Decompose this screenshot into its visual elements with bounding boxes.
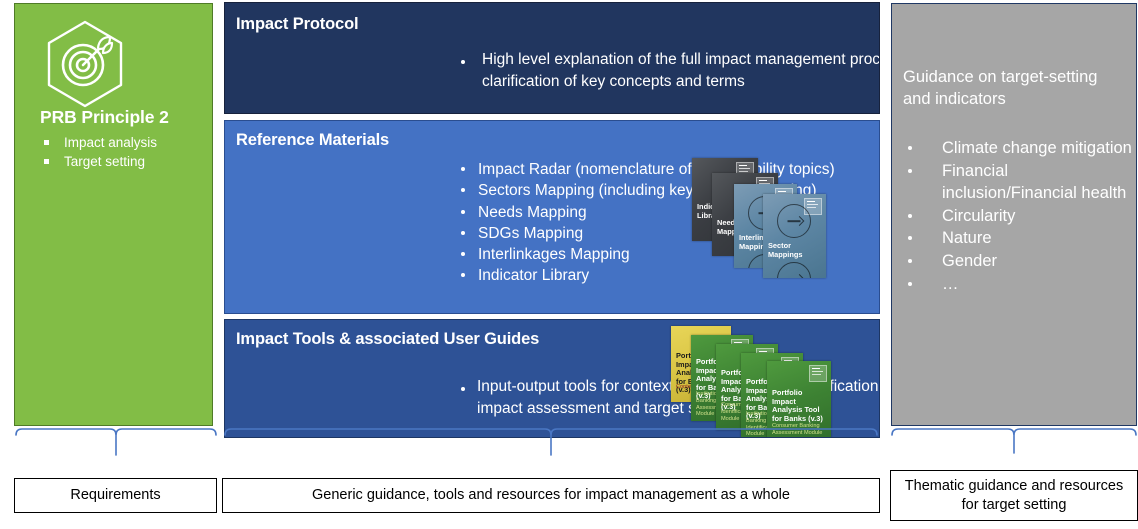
list-item-label: Circularity — [942, 207, 1015, 225]
tool-card-consumer-assessment: Portfolio Impact Analysis Tool for Banks… — [767, 361, 831, 438]
brace-requirements — [16, 429, 216, 435]
list-item: Gender — [903, 250, 1133, 273]
list-item-label: Indicator Library — [478, 267, 589, 284]
unepfi-logo-icon — [809, 365, 827, 382]
panel-thematic-guidance: Guidance on target-setting and indicator… — [891, 3, 1137, 426]
bullet-icon — [461, 252, 465, 256]
panel-title: Impact Tools & associated User Guides — [236, 330, 539, 349]
list-item: Climate change mitigation — [903, 137, 1133, 160]
green-panel-list: Impact analysis Target setting — [42, 133, 157, 171]
prb-principle-panel: PRB Principle 2 Impact analysis Target s… — [14, 3, 213, 426]
gray-panel-list: Climate change mitigation Financial incl… — [903, 137, 1133, 295]
bullet-icon — [908, 259, 912, 263]
card-subtitle: Consumer Banking Assessment Module — [772, 423, 826, 437]
caption-text: Thematic guidance and resources for targ… — [895, 477, 1133, 515]
gray-panel-heading: Guidance on target-setting and indicator… — [903, 66, 1127, 110]
list-item: Target setting — [42, 152, 157, 171]
list-item: Impact Radar (nomenclature of sustainabi… — [456, 159, 880, 180]
list-item-label: Interlinkages Mapping — [478, 246, 630, 263]
bullet-icon — [461, 273, 465, 277]
list-item-label: Financial inclusion/Financial health — [942, 162, 1126, 203]
bullet-icon — [461, 167, 465, 171]
bullet-icon — [908, 282, 912, 286]
bullet-icon — [461, 60, 465, 64]
arrow-circle-icon — [777, 262, 811, 278]
panel-reference-materials: Reference Materials Impact Radar (nomenc… — [224, 120, 880, 314]
bullet-icon — [461, 387, 465, 391]
list-item: Impact analysis — [42, 133, 157, 152]
list-item-label: Needs Mapping — [478, 204, 587, 221]
list-item-label: Impact analysis — [64, 135, 157, 150]
list-item: Nature — [903, 227, 1133, 250]
square-bullet-icon — [44, 140, 49, 145]
panel-impact-protocol: Impact Protocol High level explanation o… — [224, 2, 880, 114]
list-item: … — [903, 273, 1133, 296]
list-item-label: Nature — [942, 229, 992, 247]
bullet-icon — [461, 188, 465, 192]
caption-generic-guidance: Generic guidance, tools and resources fo… — [222, 478, 880, 513]
bullet-icon — [908, 214, 912, 218]
card-title: Portfolio Impact Analysis Tool for Banks… — [772, 389, 826, 423]
brace-thematic-guidance — [892, 429, 1136, 435]
list-item-label: Target setting — [64, 154, 145, 169]
panel-title: Impact Protocol — [236, 15, 358, 34]
panel-bullet-text: High level explanation of the full impac… — [482, 49, 880, 93]
bullet-icon — [461, 231, 465, 235]
list-item-label: … — [942, 275, 959, 293]
card-title: Sector Mappings — [768, 242, 818, 259]
caption-text: Requirements — [70, 486, 160, 505]
green-panel-title: PRB Principle 2 — [40, 107, 169, 128]
arrow-circle-icon — [777, 204, 811, 238]
bullet-icon — [461, 210, 465, 214]
diagram-canvas: PRB Principle 2 Impact analysis Target s… — [0, 0, 1138, 529]
bullet-icon — [908, 146, 912, 150]
bullet-icon — [908, 169, 912, 173]
reference-card-sector-mappings: Sector Mappings — [763, 194, 826, 278]
panel-impact-tools: Impact Tools & associated User Guides In… — [224, 319, 880, 438]
list-item: Financial inclusion/Financial health — [903, 160, 1133, 205]
square-bullet-icon — [44, 159, 49, 164]
bullet-icon — [908, 236, 912, 240]
list-item-label: Gender — [942, 252, 997, 270]
caption-requirements: Requirements — [14, 478, 217, 513]
list-item: Circularity — [903, 205, 1133, 228]
caption-text: Generic guidance, tools and resources fo… — [312, 486, 790, 505]
target-hexagon-icon — [39, 18, 131, 110]
list-item-label: SDGs Mapping — [478, 225, 583, 242]
caption-thematic-guidance: Thematic guidance and resources for targ… — [890, 470, 1138, 521]
list-item-label: Climate change mitigation — [942, 139, 1132, 157]
list-item-label: Impact Radar (nomenclature of sustainabi… — [478, 161, 835, 178]
panel-title: Reference Materials — [236, 131, 389, 150]
